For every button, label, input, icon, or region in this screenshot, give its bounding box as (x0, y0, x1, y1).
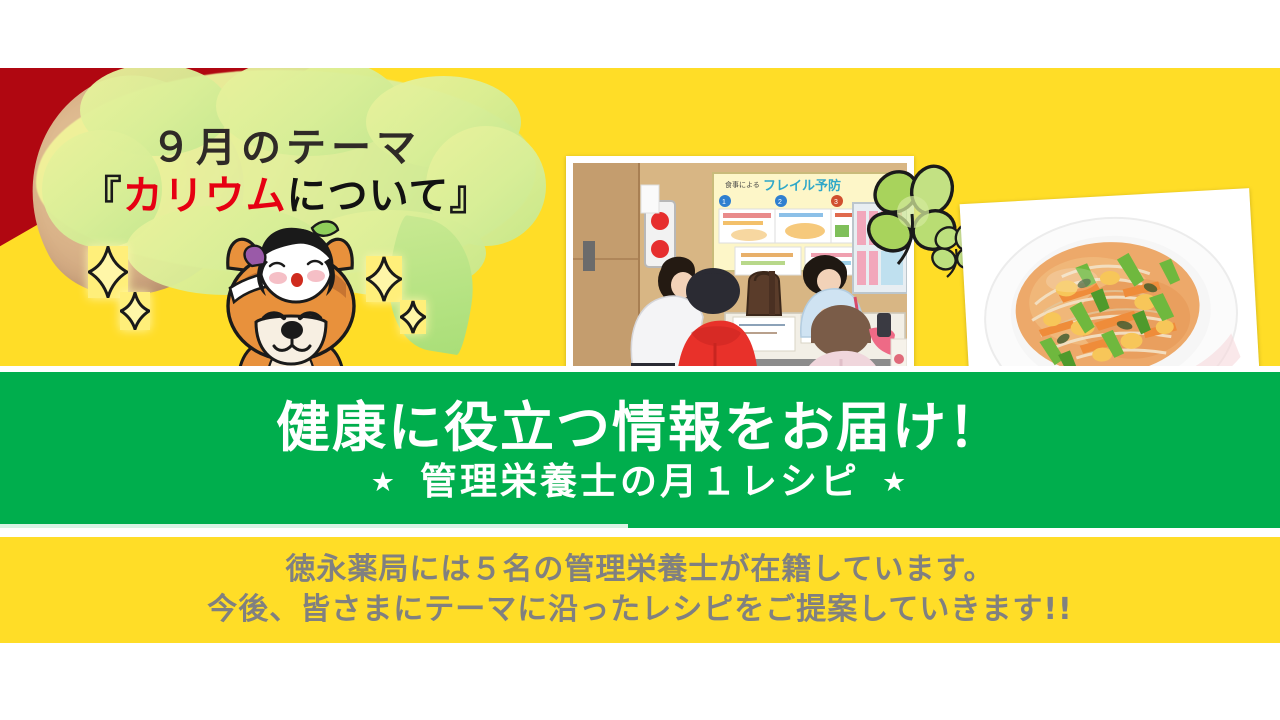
bracket-open: 『 (82, 173, 123, 219)
theme-rest: について (287, 173, 450, 219)
sparkle-diamond-icon (88, 246, 128, 298)
consultation-scene-illustration: 食事による フレイル予防 1 2 (573, 163, 907, 366)
headline-text: 健康に役立つ情報をお届け！ (276, 399, 1004, 456)
headline-banner: 健康に役立つ情報をお届け！ ★ 管理栄養士の月１レシピ ★ (0, 372, 1280, 528)
theme-month-label: ９月のテーマ (151, 128, 421, 168)
sparkle-diamond-icon (120, 292, 150, 330)
shiba-dog-mascot-icon (196, 218, 386, 366)
svg-text:1: 1 (722, 199, 726, 206)
photo-content (968, 197, 1254, 366)
star-right-icon: ★ (882, 469, 909, 496)
divider-bottom (0, 528, 1280, 537)
subline-group: ★ 管理栄養士の月１レシピ ★ (371, 462, 909, 503)
theme-title-label: 『カリウムについて』 (82, 174, 491, 218)
note-line-2: 今後、皆さまにテーマに沿ったレシピをご提案していきます!! (207, 591, 1072, 629)
pharmacy-nutrition-consultation-photo: 食事による フレイル予防 1 2 (566, 156, 914, 366)
svg-text:食事による: 食事による (725, 180, 760, 189)
svg-text:フレイル予防: フレイル予防 (763, 178, 841, 194)
note-banner: 徳永薬局には５名の管理栄養士が在籍しています。 今後、皆さまにテーマに沿ったレシ… (0, 537, 1280, 643)
japchae-dish-illustration (968, 197, 1254, 366)
svg-text:3: 3 (834, 199, 838, 206)
promo-poster: ９月のテーマ 『カリウムについて』 (0, 0, 1280, 720)
hero-section: ９月のテーマ 『カリウムについて』 (0, 68, 1280, 366)
subline-text: 管理栄養士の月１レシピ (420, 462, 860, 503)
note-line-1: 徳永薬局には５名の管理栄養士が在籍しています。 (285, 551, 994, 589)
sparkle-diamond-icon (400, 300, 426, 334)
svg-text:2: 2 (778, 199, 782, 206)
photo-content: 食事による フレイル予防 1 2 (573, 163, 907, 366)
star-left-icon: ★ (371, 469, 398, 496)
bracket-close: 』 (449, 173, 490, 219)
recipe-dish-photo (960, 188, 1263, 366)
theme-keyword: カリウム (123, 173, 287, 219)
